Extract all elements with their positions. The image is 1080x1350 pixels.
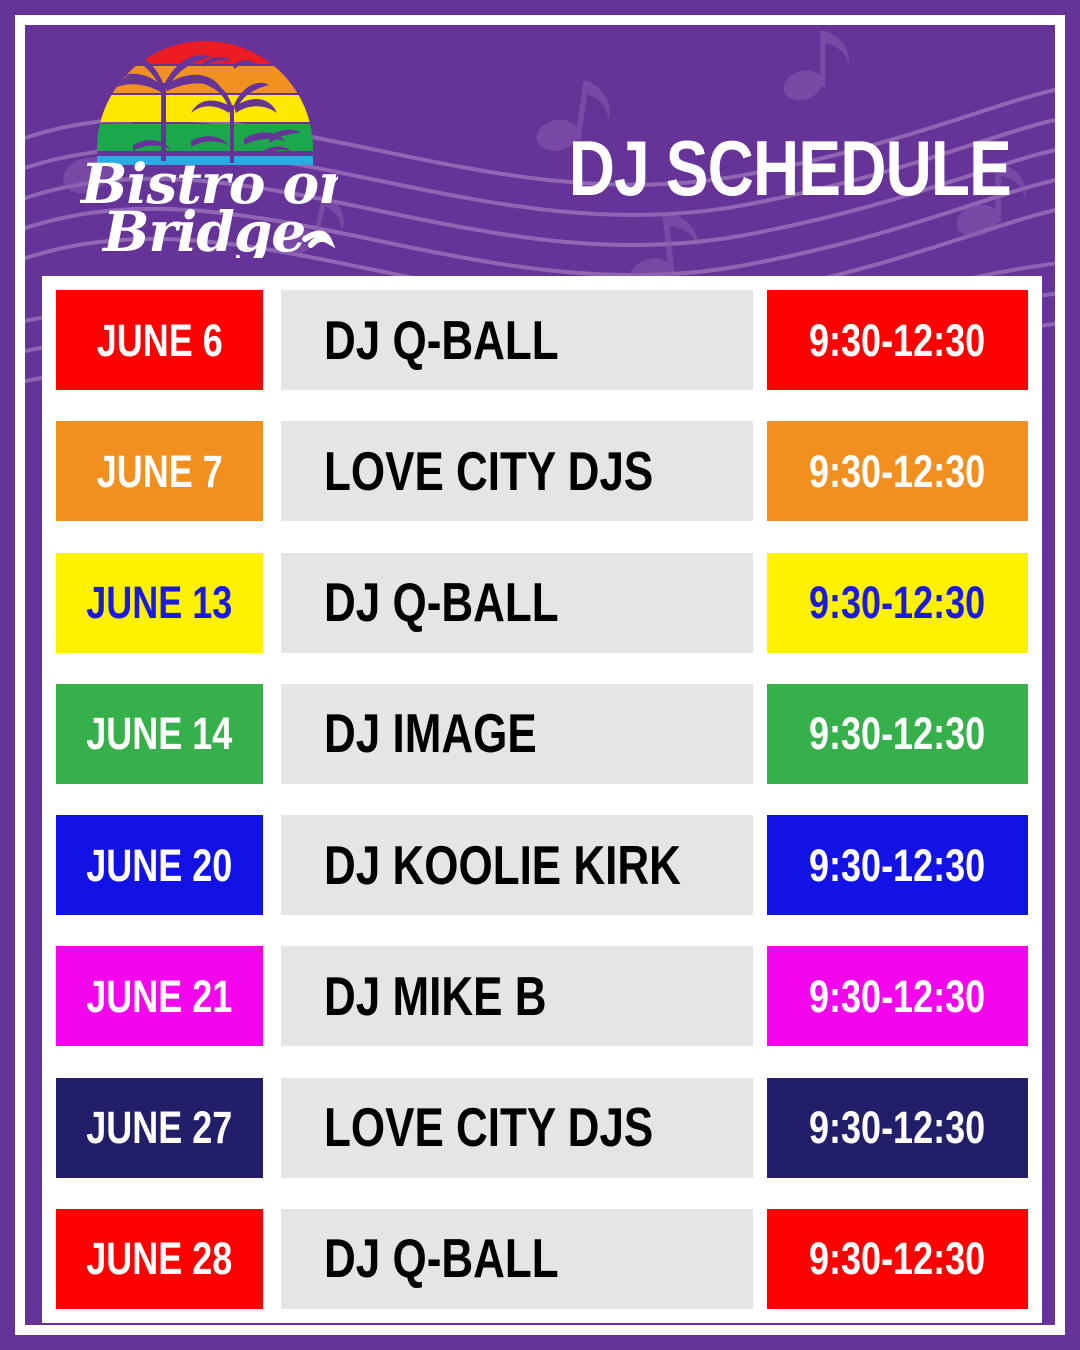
table-row: JUNE 27 LOVE CITY DJS 9:30-12:30 bbox=[56, 1078, 1028, 1178]
cell-gap bbox=[263, 290, 281, 390]
time-block[interactable]: 9:30-12:30 bbox=[767, 946, 1028, 1046]
logo-line2: Bridge bbox=[101, 199, 305, 258]
artist-panel[interactable]: DJ IMAGE bbox=[281, 684, 753, 784]
time-label: 9:30-12:30 bbox=[809, 1236, 985, 1281]
artist-label: DJ MIKE B bbox=[324, 969, 546, 1024]
cell-gap bbox=[753, 290, 767, 390]
rainbow-sunset-icon bbox=[93, 37, 319, 169]
cell-gap bbox=[753, 684, 767, 784]
date-block[interactable]: JUNE 21 bbox=[56, 946, 263, 1046]
time-block[interactable]: 9:30-12:30 bbox=[767, 1078, 1028, 1178]
table-row: JUNE 21 DJ MIKE B 9:30-12:30 bbox=[56, 946, 1028, 1046]
artist-label: LOVE CITY DJS bbox=[324, 444, 653, 499]
artist-panel[interactable]: DJ Q-BALL bbox=[281, 553, 753, 653]
table-row: JUNE 20 DJ KOOLIE KIRK 9:30-12:30 bbox=[56, 815, 1028, 915]
time-label: 9:30-12:30 bbox=[809, 318, 985, 363]
poster-white-frame: Bistro on Bridge DJ SCHEDULE JUNE 6 DJ Q… bbox=[15, 15, 1065, 1335]
date-block[interactable]: JUNE 7 bbox=[56, 421, 263, 521]
cell-gap bbox=[263, 946, 281, 1046]
time-block[interactable]: 9:30-12:30 bbox=[767, 1209, 1028, 1309]
time-block[interactable]: 9:30-12:30 bbox=[767, 553, 1028, 653]
date-block[interactable]: JUNE 13 bbox=[56, 553, 263, 653]
bistro-on-bridge-logo: Bistro on Bridge bbox=[73, 33, 338, 258]
artist-label: DJ Q-BALL bbox=[324, 313, 559, 368]
artist-label: DJ Q-BALL bbox=[324, 575, 559, 630]
date-label: JUNE 27 bbox=[86, 1105, 232, 1150]
cell-gap bbox=[263, 684, 281, 784]
time-label: 9:30-12:30 bbox=[809, 580, 985, 625]
table-row: JUNE 7 LOVE CITY DJS 9:30-12:30 bbox=[56, 421, 1028, 521]
date-label: JUNE 21 bbox=[86, 974, 232, 1019]
cell-gap bbox=[263, 1209, 281, 1309]
artist-label: LOVE CITY DJS bbox=[324, 1100, 653, 1155]
time-label: 9:30-12:30 bbox=[809, 711, 985, 756]
artist-panel[interactable]: DJ Q-BALL bbox=[281, 290, 753, 390]
logo-wordmark: Bistro on Bridge bbox=[79, 151, 338, 258]
artist-panel[interactable]: DJ KOOLIE KIRK bbox=[281, 815, 753, 915]
page-title: DJ SCHEDULE bbox=[569, 129, 922, 207]
cell-gap bbox=[753, 553, 767, 653]
date-label: JUNE 20 bbox=[86, 843, 232, 888]
artist-panel[interactable]: LOVE CITY DJS bbox=[281, 421, 753, 521]
artist-panel[interactable]: LOVE CITY DJS bbox=[281, 1078, 753, 1178]
cell-gap bbox=[263, 815, 281, 915]
date-label: JUNE 7 bbox=[96, 449, 222, 494]
date-label: JUNE 13 bbox=[86, 580, 232, 625]
cell-gap bbox=[263, 1078, 281, 1178]
date-label: JUNE 14 bbox=[86, 711, 232, 756]
table-row: JUNE 28 DJ Q-BALL 9:30-12:30 bbox=[56, 1209, 1028, 1309]
time-label: 9:30-12:30 bbox=[809, 974, 985, 1019]
time-block[interactable]: 9:30-12:30 bbox=[767, 684, 1028, 784]
date-block[interactable]: JUNE 14 bbox=[56, 684, 263, 784]
artist-label: DJ KOOLIE KIRK bbox=[324, 838, 681, 893]
poster-header: Bistro on Bridge DJ SCHEDULE bbox=[25, 25, 1055, 280]
time-block[interactable]: 9:30-12:30 bbox=[767, 290, 1028, 390]
cell-gap bbox=[753, 1209, 767, 1309]
time-label: 9:30-12:30 bbox=[809, 1105, 985, 1150]
time-block[interactable]: 9:30-12:30 bbox=[767, 421, 1028, 521]
cell-gap bbox=[263, 421, 281, 521]
artist-label: DJ Q-BALL bbox=[324, 1231, 559, 1286]
table-row: JUNE 13 DJ Q-BALL 9:30-12:30 bbox=[56, 553, 1028, 653]
artist-panel[interactable]: DJ Q-BALL bbox=[281, 1209, 753, 1309]
logo-swash-icon bbox=[305, 233, 329, 245]
poster-stage: Bistro on Bridge DJ SCHEDULE JUNE 6 DJ Q… bbox=[25, 25, 1055, 1325]
time-label: 9:30-12:30 bbox=[809, 843, 985, 888]
date-label: JUNE 28 bbox=[86, 1236, 232, 1281]
schedule-card: JUNE 6 DJ Q-BALL 9:30-12:30 JUNE 7 bbox=[42, 276, 1042, 1323]
table-row: JUNE 6 DJ Q-BALL 9:30-12:30 bbox=[56, 290, 1028, 390]
cell-gap bbox=[753, 421, 767, 521]
poster-root: Bistro on Bridge DJ SCHEDULE JUNE 6 DJ Q… bbox=[0, 0, 1080, 1350]
cell-gap bbox=[753, 946, 767, 1046]
time-block[interactable]: 9:30-12:30 bbox=[767, 815, 1028, 915]
date-label: JUNE 6 bbox=[96, 318, 222, 363]
date-block[interactable]: JUNE 27 bbox=[56, 1078, 263, 1178]
table-row: JUNE 14 DJ IMAGE 9:30-12:30 bbox=[56, 684, 1028, 784]
date-block[interactable]: JUNE 6 bbox=[56, 290, 263, 390]
date-block[interactable]: JUNE 20 bbox=[56, 815, 263, 915]
cell-gap bbox=[753, 815, 767, 915]
artist-panel[interactable]: DJ MIKE B bbox=[281, 946, 753, 1046]
artist-label: DJ IMAGE bbox=[324, 706, 537, 761]
date-block[interactable]: JUNE 28 bbox=[56, 1209, 263, 1309]
cell-gap bbox=[753, 1078, 767, 1178]
cell-gap bbox=[263, 553, 281, 653]
time-label: 9:30-12:30 bbox=[809, 449, 985, 494]
